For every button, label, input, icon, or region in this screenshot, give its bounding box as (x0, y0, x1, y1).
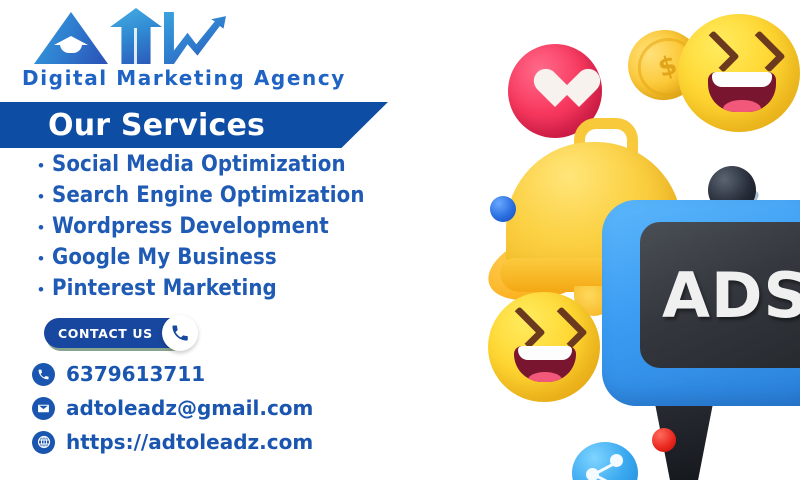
list-item: • Google My Business (30, 245, 365, 276)
services-banner-title: Our Services (48, 108, 265, 143)
ads-screen: ADS (640, 222, 800, 368)
hero-illustration: $ (480, 0, 800, 480)
ads-label: ADS (662, 259, 800, 332)
graduation-cap-icon (54, 36, 88, 56)
service-label: Pinterest Marketing (52, 276, 277, 301)
phone-number: 6379613711 (66, 362, 205, 386)
bullet-icon: • (30, 219, 52, 236)
brand-logo: Digital Marketing Agency (22, 6, 302, 90)
service-label: Google My Business (52, 245, 277, 270)
contact-row-email[interactable]: adtoleadz@gmail.com (32, 391, 313, 425)
list-item: • Wordpress Development (30, 214, 365, 245)
bullet-icon: • (30, 157, 52, 174)
contact-row-phone[interactable]: 6379613711 (32, 357, 313, 391)
bullet-icon: • (30, 250, 52, 267)
list-item: • Pinterest Marketing (30, 276, 365, 307)
contact-details: 6379613711 adtoleadz@gmail.com https:/ (32, 357, 313, 459)
list-item: • Search Engine Optimization (30, 183, 365, 214)
red-sphere-icon (652, 428, 676, 452)
globe-icon (32, 431, 55, 454)
phone-icon[interactable] (162, 315, 198, 351)
blue-sphere-icon (490, 196, 516, 222)
laughing-emoji-icon (488, 292, 600, 402)
email-icon (32, 397, 55, 420)
poster-canvas: Digital Marketing Agency Our Services • … (0, 0, 800, 480)
brand-tagline: Digital Marketing Agency (22, 66, 302, 90)
service-label: Social Media Optimization (52, 152, 346, 177)
list-item: • Social Media Optimization (30, 152, 365, 183)
bullet-icon: • (30, 188, 52, 205)
bullet-icon: • (30, 281, 52, 298)
services-list: • Social Media Optimization • Search Eng… (30, 152, 365, 307)
logo-letter-w-chart-icon (164, 12, 226, 64)
share-bubble-icon (572, 442, 638, 480)
contact-us-button[interactable]: CONTACT US (44, 318, 184, 348)
ads-billboard-icon: ADS (602, 200, 800, 406)
phone-icon (32, 363, 55, 386)
service-label: Wordpress Development (52, 214, 329, 239)
contact-row-website[interactable]: https://adtoleadz.com (32, 425, 313, 459)
website-url: https://adtoleadz.com (66, 430, 313, 454)
service-label: Search Engine Optimization (52, 183, 365, 208)
contact-us-label: CONTACT US (58, 326, 153, 341)
email-address: adtoleadz@gmail.com (66, 396, 313, 420)
services-banner: Our Services (0, 102, 388, 148)
logo-arrow-split (134, 28, 137, 64)
atw-monogram-icon (34, 6, 224, 64)
laughing-emoji-icon (678, 14, 800, 132)
